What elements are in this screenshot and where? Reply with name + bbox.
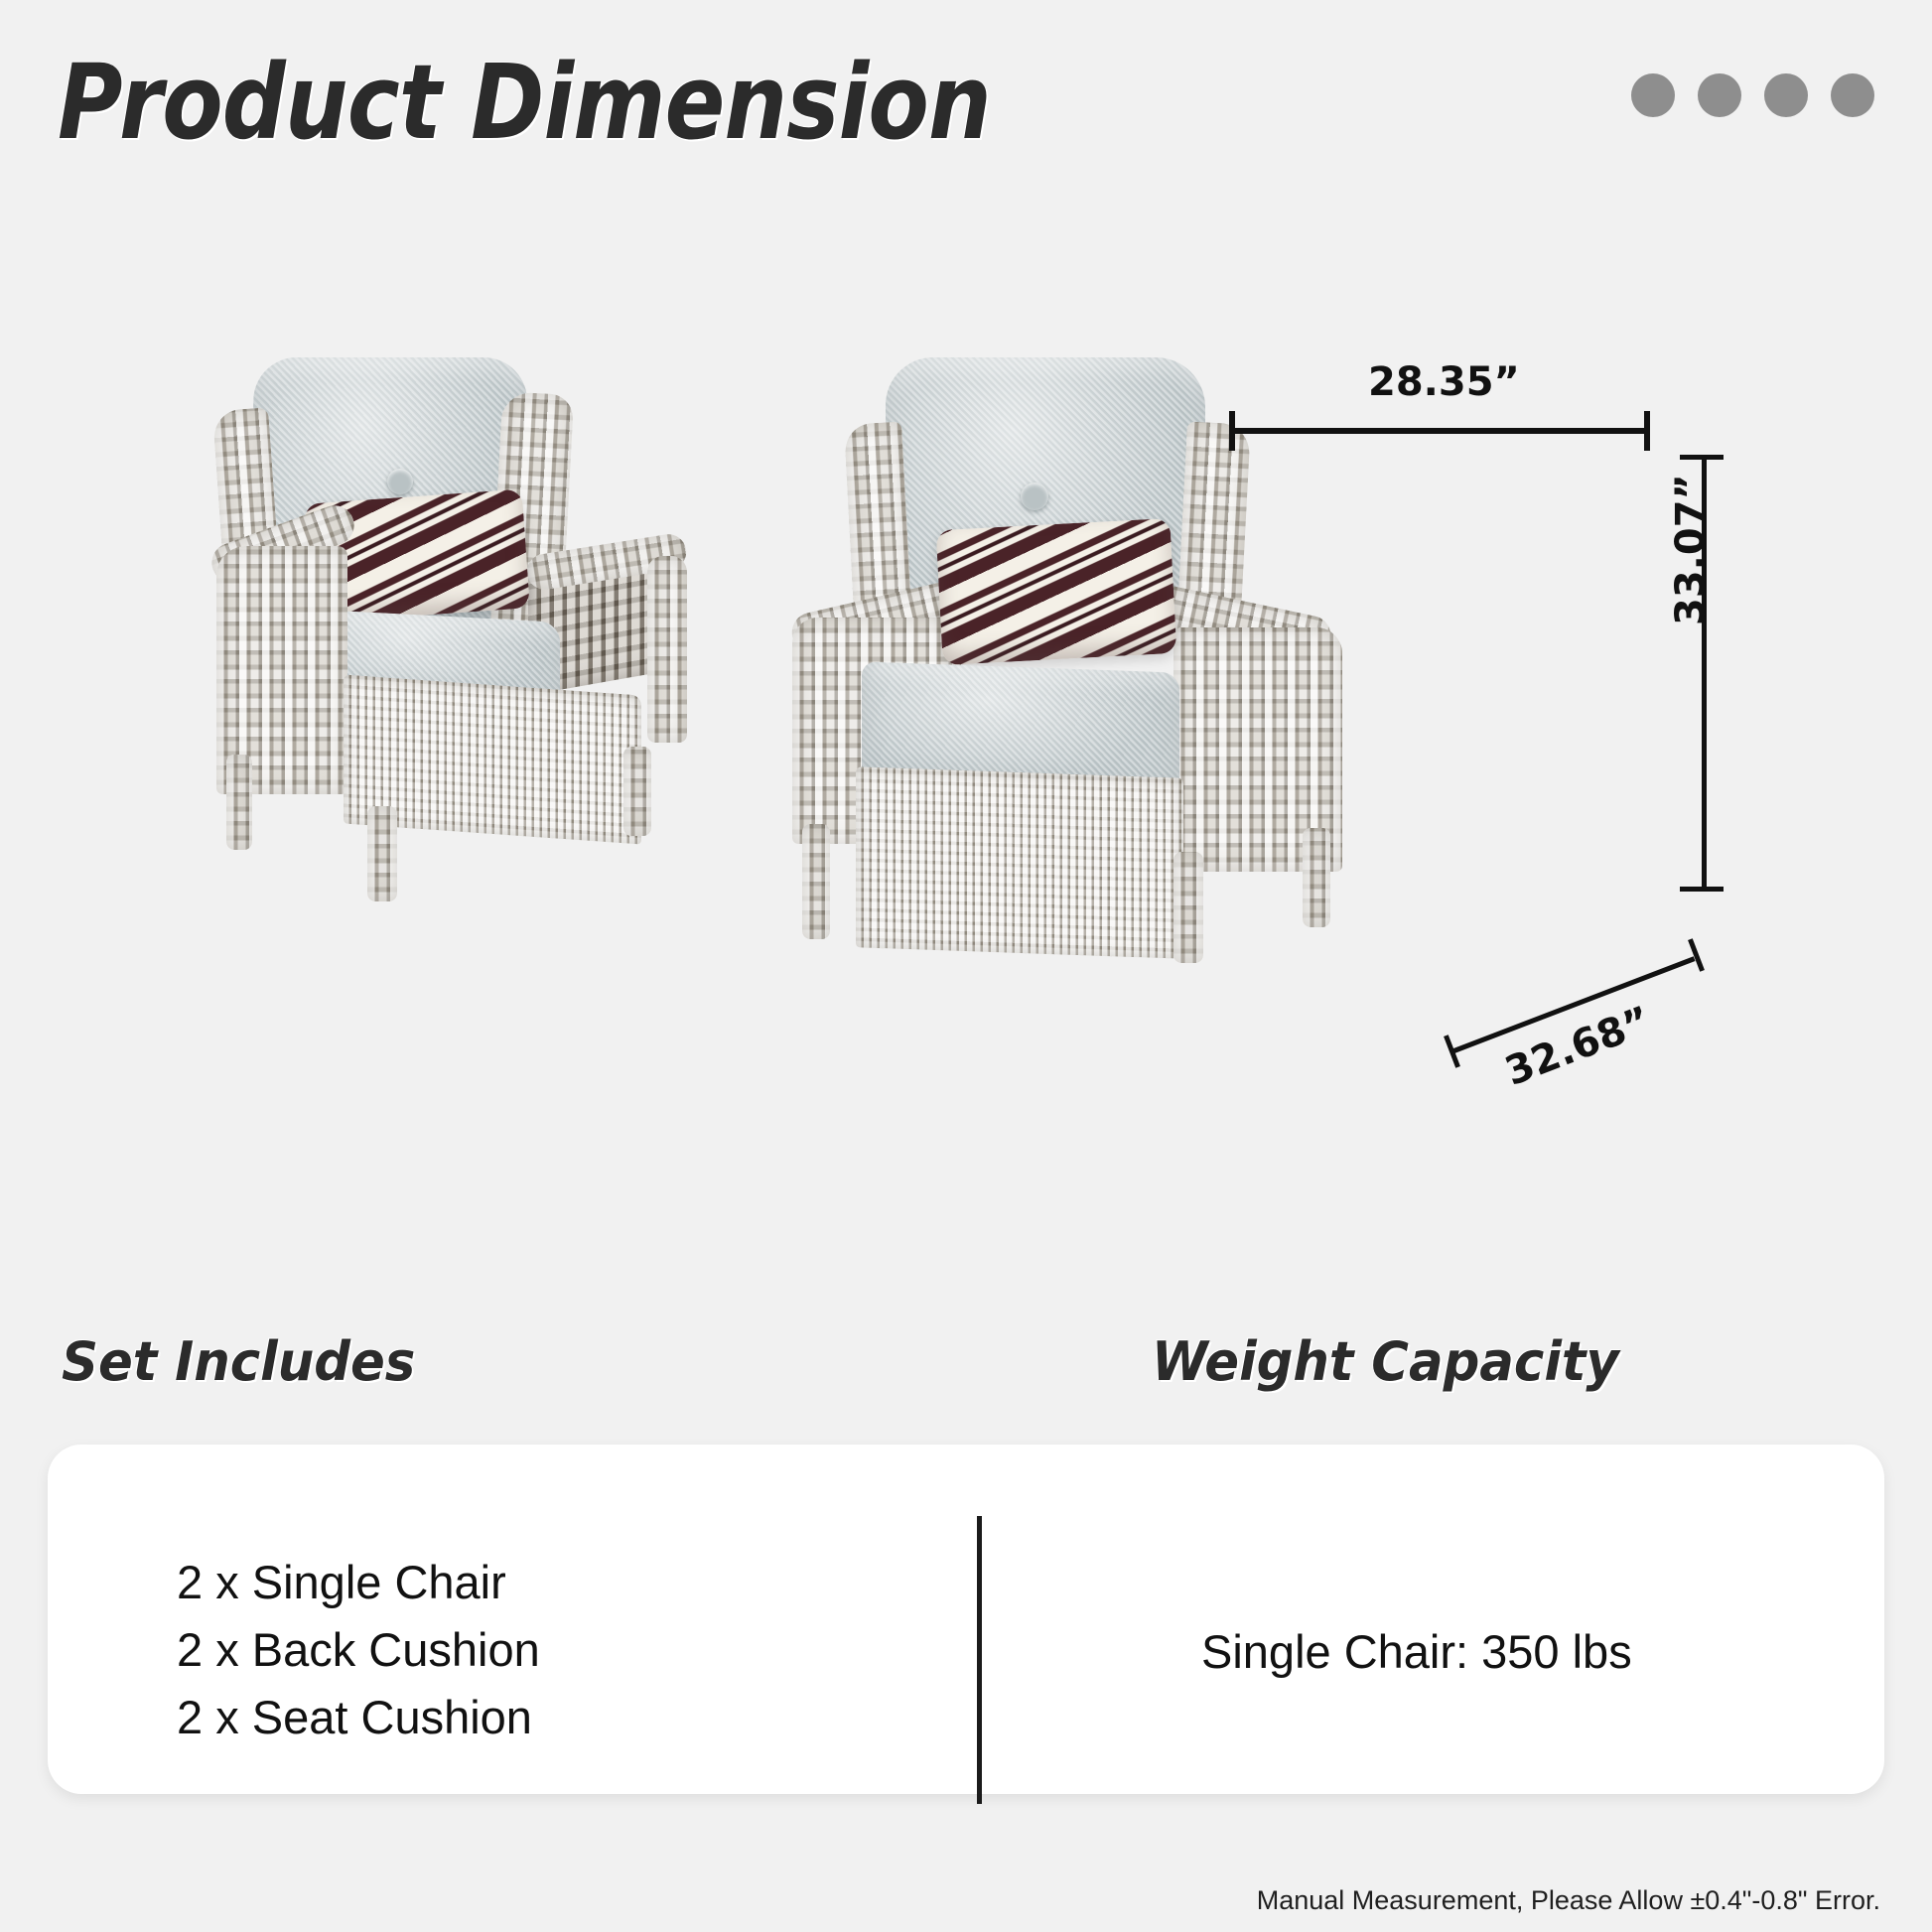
dot-icon-1 xyxy=(1631,73,1675,117)
dot-icon-3 xyxy=(1764,73,1808,117)
card-vertical-divider xyxy=(977,1516,982,1804)
chair-right-leg-front-left xyxy=(802,824,830,939)
chair-left-leg-front-right xyxy=(367,806,397,901)
decorative-dot-group xyxy=(1631,73,1874,117)
set-includes-heading: Set Includes xyxy=(62,1330,415,1393)
dot-icon-4 xyxy=(1831,73,1874,117)
measurement-footnote: Manual Measurement, Please Allow ±0.4"-0… xyxy=(1257,1885,1880,1916)
list-item: 2 x Back Cushion xyxy=(177,1616,872,1684)
chair-right-leg-back-right xyxy=(1303,828,1330,927)
product-image-scene: 28.35” 33.07” 32.68” xyxy=(0,298,1932,1291)
weight-capacity-heading: Weight Capacity xyxy=(1152,1330,1619,1393)
chair-left-tuft-button xyxy=(387,469,413,494)
dimension-width-line xyxy=(1229,428,1650,434)
chair-left xyxy=(199,357,755,953)
dimension-depth-label: 32.68” xyxy=(1499,998,1657,1095)
dimension-height-label: 33.07” xyxy=(1668,474,1714,625)
chair-right xyxy=(784,357,1400,1013)
dimension-width-cap-right xyxy=(1644,411,1650,451)
dimension-depth-cap-upper xyxy=(1688,938,1705,972)
chair-right-throw-pillow xyxy=(936,518,1177,665)
chair-right-front-base xyxy=(856,766,1183,959)
page-title: Product Dimension xyxy=(58,42,991,163)
list-item: 2 x Seat Cushion xyxy=(177,1684,872,1751)
chair-left-leg-back-right xyxy=(623,747,651,836)
chair-left-arm-right-outer xyxy=(647,556,687,743)
chair-left-leg-front-left xyxy=(226,755,252,850)
list-item: 2 x Single Chair xyxy=(177,1549,872,1616)
dimension-width-cap-left xyxy=(1229,411,1235,451)
chair-right-leg-front-right xyxy=(1173,852,1203,963)
dimension-height-cap-top xyxy=(1680,455,1724,460)
product-dimension-infographic: Product Dimension xyxy=(0,0,1932,1932)
dimension-height-cap-bottom xyxy=(1680,887,1724,892)
weight-capacity-value: Single Chair: 350 lbs xyxy=(1201,1624,1632,1679)
dimension-width-label: 28.35” xyxy=(1368,359,1520,405)
set-includes-list: 2 x Single Chair 2 x Back Cushion 2 x Se… xyxy=(177,1549,872,1751)
dot-icon-2 xyxy=(1698,73,1741,117)
chair-right-tuft-button xyxy=(1021,483,1048,510)
